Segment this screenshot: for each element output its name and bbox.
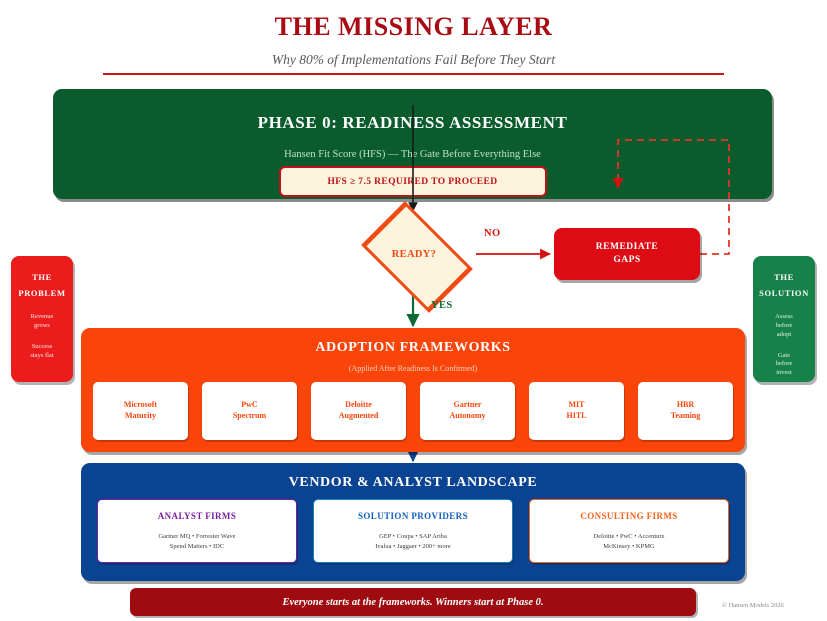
vendor-card-solution-providers[interactable]: SOLUTION PROVIDERS GEP • Coupa • SAP Ari… (313, 499, 513, 563)
rail-solution-item: Assessbeforeadopt (775, 313, 793, 339)
adoption-title: ADOPTION FRAMEWORKS (81, 340, 745, 356)
adoption-subtitle: (Applied After Readiness Is Confirmed) (81, 364, 745, 373)
framework-card-line1: MIT (566, 400, 586, 411)
framework-card[interactable]: PwC Spectrum (202, 382, 297, 440)
header-divider (103, 73, 724, 75)
framework-card[interactable]: Microsoft Maturity (93, 382, 188, 440)
edge-label-yes: YES (431, 300, 453, 311)
readiness-decision-node[interactable]: READY? (352, 214, 476, 294)
remediate-line-2: GAPS (613, 254, 640, 267)
footer-banner: Everyone starts at the frameworks. Winne… (130, 588, 696, 616)
phase0-subtitle: Hansen Fit Score (HFS) — The Gate Before… (53, 149, 772, 160)
framework-card-line2: Autonomy (449, 411, 485, 422)
remediate-line-1: REMEDIATE (596, 241, 658, 254)
framework-card-line1: Deloitte (339, 400, 379, 411)
rail-solution-heading-line2: SOLUTION (759, 285, 809, 301)
vendor-card-row: ANALYST FIRMS Gartner MQ • Forrester Wav… (97, 499, 729, 561)
framework-card-line1: Microsoft (124, 400, 157, 411)
framework-card-line2: Teaming (671, 411, 701, 422)
decision-label: READY? (352, 214, 476, 294)
rail-problem-heading-line1: THE (18, 269, 65, 285)
vendor-landscape-panel: VENDOR & ANALYST LANDSCAPE ANALYST FIRMS… (81, 463, 745, 581)
rail-solution-item: Gatebeforeinvest (776, 352, 793, 378)
rail-solution-heading: THE SOLUTION (759, 269, 809, 301)
framework-card[interactable]: HBR Teaming (638, 382, 733, 440)
rail-the-problem: THE PROBLEM Revenuegrows Successstays fl… (11, 256, 73, 382)
vendor-card-body-line2: Spend Matters • IDC (158, 542, 235, 551)
vendor-card-body: Gartner MQ • Forrester Wave Spend Matter… (158, 532, 235, 551)
framework-card-line1: Gartner (449, 400, 485, 411)
framework-card[interactable]: Gartner Autonomy (420, 382, 515, 440)
vendor-card-body: GEP • Coupa • SAP Ariba Ivalua • Jaggaer… (375, 532, 451, 551)
vendor-card-heading: SOLUTION PROVIDERS (358, 511, 468, 521)
rail-the-solution: THE SOLUTION Assessbeforeadopt Gatebefor… (753, 256, 815, 382)
framework-card[interactable]: Deloitte Augmented (311, 382, 406, 440)
rail-problem-heading-line2: PROBLEM (18, 285, 65, 301)
vendor-card-body-line1: Gartner MQ • Forrester Wave (158, 532, 235, 541)
vendor-card-heading: CONSULTING FIRMS (580, 511, 677, 521)
framework-card-line1: PwC (233, 400, 266, 411)
remediate-gaps-node[interactable]: REMEDIATE GAPS (554, 228, 700, 280)
vendor-title: VENDOR & ANALYST LANDSCAPE (81, 475, 745, 491)
vendor-card-body-line1: Deloitte • PwC • Accenture (594, 532, 665, 541)
rail-solution-heading-line1: THE (759, 269, 809, 285)
page-title: THE MISSING LAYER (0, 12, 827, 42)
vendor-card-body-line1: GEP • Coupa • SAP Ariba (375, 532, 451, 541)
framework-card-line2: Maturity (124, 411, 157, 422)
framework-card-line2: Spectrum (233, 411, 266, 422)
page-subtitle: Why 80% of Implementations Fail Before T… (0, 52, 827, 68)
vendor-card-heading: ANALYST FIRMS (158, 511, 236, 521)
vendor-card-body-line2: Ivalua • Jaggaer • 200+ more (375, 542, 451, 551)
phase0-panel: PHASE 0: READINESS ASSESSMENT Hansen Fit… (53, 89, 772, 199)
vendor-card-consulting-firms[interactable]: CONSULTING FIRMS Deloitte • PwC • Accent… (529, 499, 729, 563)
copyright-notice: © Hansen Models 2026 (722, 602, 784, 609)
infographic-canvas: THE MISSING LAYER Why 80% of Implementat… (0, 0, 827, 621)
rail-problem-heading: THE PROBLEM (18, 269, 65, 301)
framework-card[interactable]: MIT HITL (529, 382, 624, 440)
phase0-title: PHASE 0: READINESS ASSESSMENT (53, 113, 772, 133)
rail-problem-item: Revenuegrows (31, 313, 54, 331)
vendor-card-analyst-firms[interactable]: ANALYST FIRMS Gartner MQ • Forrester Wav… (97, 499, 297, 563)
framework-card-line2: HITL (566, 411, 586, 422)
rail-problem-item: Successstays flat (30, 343, 53, 361)
framework-card-line1: HBR (671, 400, 701, 411)
hfs-threshold-badge: HFS ≥ 7.5 REQUIRED TO PROCEED (279, 166, 547, 197)
vendor-card-body-line2: McKinsey • KPMG (594, 542, 665, 551)
adoption-card-row: Microsoft Maturity PwC Spectrum Deloitte… (93, 382, 733, 440)
vendor-card-body: Deloitte • PwC • Accenture McKinsey • KP… (594, 532, 665, 551)
adoption-frameworks-panel: ADOPTION FRAMEWORKS (Applied After Readi… (81, 328, 745, 452)
framework-card-line2: Augmented (339, 411, 379, 422)
edge-label-no: NO (484, 228, 501, 239)
